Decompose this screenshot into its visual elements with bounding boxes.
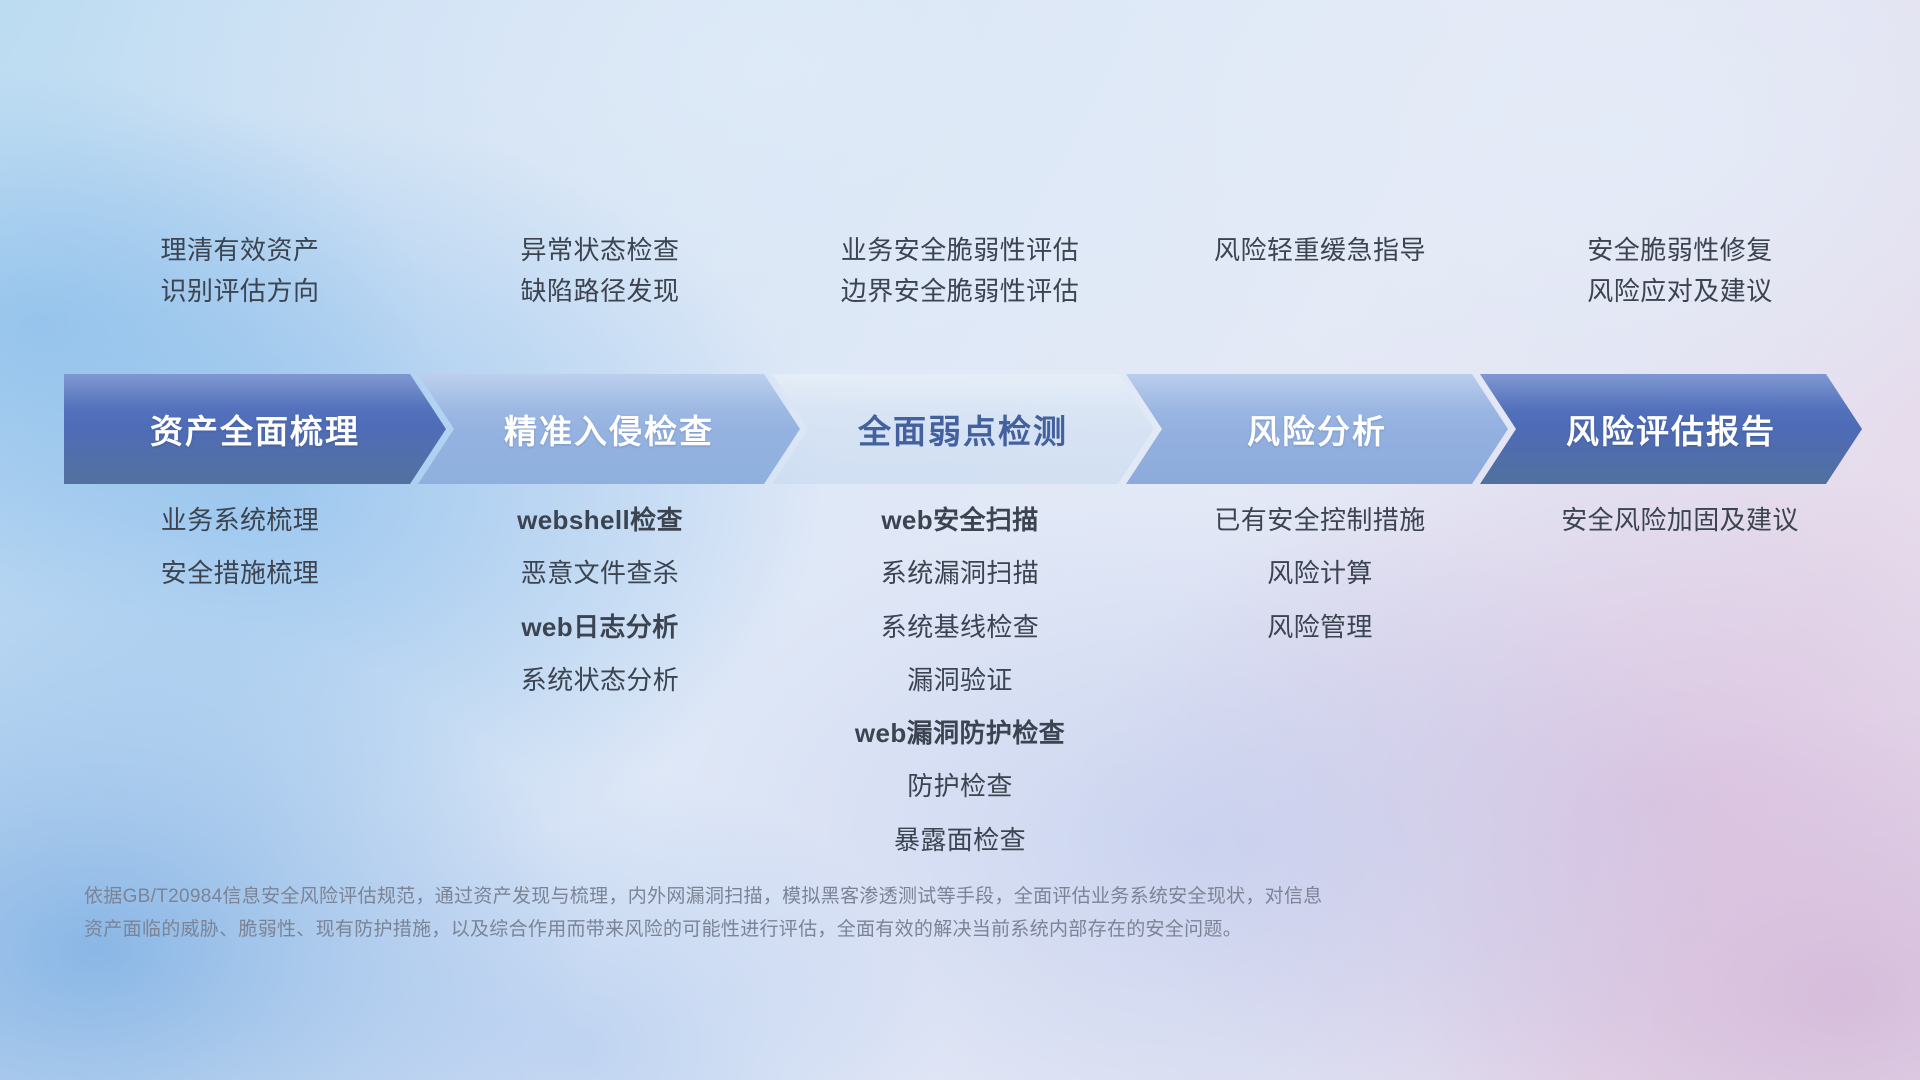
top-item: 缺陷路径发现 <box>520 271 679 312</box>
bottom-item: 系统状态分析 <box>521 660 679 700</box>
top-item: 识别评估方向 <box>160 271 319 312</box>
bottom-item: 风险管理 <box>1267 607 1373 647</box>
chevron-stage-asset-inventory[interactable]: 资产全面梳理 <box>64 374 446 484</box>
top-column-weakness-detection: 业务安全脆弱性评估 边界安全脆弱性评估 <box>780 230 1140 312</box>
bottom-column-assessment-report: 安全风险加固及建议 <box>1500 500 1860 553</box>
chevron-label: 风险评估报告 <box>1566 405 1776 453</box>
bottom-column-weakness-detection: web安全扫描 系统漏洞扫描 系统基线检查 漏洞验证 web漏洞防护检查 防护检… <box>780 500 1140 873</box>
chevron-stage-weakness-detection[interactable]: 全面弱点检测 <box>772 374 1154 484</box>
chevron-label: 精准入侵检查 <box>504 405 714 453</box>
top-descriptions-row: 理清有效资产 识别评估方向 异常状态检查 缺陷路径发现 业务安全脆弱性评估 边界… <box>60 230 1860 312</box>
top-item: 业务安全脆弱性评估 <box>841 230 1080 271</box>
bottom-item: 恶意文件查杀 <box>521 553 679 593</box>
bottom-column-risk-analysis: 已有安全控制措施 风险计算 风险管理 <box>1140 500 1500 660</box>
process-chevron-banner: 资产全面梳理 精准入侵检查 全面弱点检测 风险分析 风险评估报告 <box>64 374 1862 484</box>
bottom-item: 系统基线检查 <box>881 607 1039 647</box>
top-item: 风险轻重缓急指导 <box>1214 230 1426 271</box>
top-item: 风险应对及建议 <box>1587 271 1773 312</box>
top-item: 理清有效资产 <box>160 230 319 271</box>
chevron-stage-intrusion-check[interactable]: 精准入侵检查 <box>418 374 800 484</box>
bottom-item: 系统漏洞扫描 <box>881 553 1039 593</box>
chevron-label: 风险分析 <box>1247 405 1387 453</box>
top-column-intrusion-check: 异常状态检查 缺陷路径发现 <box>420 230 780 312</box>
footer-line-1: 依据GB/T20984信息安全风险评估规范，通过资产发现与梳理，内外网漏洞扫描，… <box>84 880 1800 913</box>
footer-line-2: 资产面临的威胁、脆弱性、现有防护措施，以及综合作用而带来风险的可能性进行评估，全… <box>84 913 1800 946</box>
footer-description: 依据GB/T20984信息安全风险评估规范，通过资产发现与梳理，内外网漏洞扫描，… <box>84 880 1800 947</box>
top-item: 异常状态检查 <box>520 230 679 271</box>
chevron-stage-risk-analysis[interactable]: 风险分析 <box>1126 374 1508 484</box>
bottom-item: 安全风险加固及建议 <box>1561 500 1799 540</box>
chevron-label: 资产全面梳理 <box>150 405 360 453</box>
chevron-label: 全面弱点检测 <box>858 405 1068 453</box>
bottom-item: 业务系统梳理 <box>161 500 319 540</box>
bottom-item: web漏洞防护检查 <box>855 713 1065 753</box>
bottom-item: 防护检查 <box>907 766 1013 806</box>
bottom-item: webshell检查 <box>517 500 683 540</box>
chevron-stage-assessment-report[interactable]: 风险评估报告 <box>1480 374 1862 484</box>
bottom-item: 已有安全控制措施 <box>1214 500 1425 540</box>
top-column-risk-analysis: 风险轻重缓急指导 <box>1140 230 1500 312</box>
bottom-item: web日志分析 <box>521 607 678 647</box>
slide-content: 理清有效资产 识别评估方向 异常状态检查 缺陷路径发现 业务安全脆弱性评估 边界… <box>0 0 1920 1080</box>
top-column-assessment-report: 安全脆弱性修复 风险应对及建议 <box>1500 230 1860 312</box>
bottom-column-intrusion-check: webshell检查 恶意文件查杀 web日志分析 系统状态分析 <box>420 500 780 713</box>
bottom-item: web安全扫描 <box>881 500 1038 540</box>
bottom-column-asset-inventory: 业务系统梳理 安全措施梳理 <box>60 500 420 607</box>
top-item: 安全脆弱性修复 <box>1587 230 1773 271</box>
bottom-item: 漏洞验证 <box>907 660 1013 700</box>
bottom-item: 安全措施梳理 <box>161 553 319 593</box>
top-column-asset-inventory: 理清有效资产 识别评估方向 <box>60 230 420 312</box>
bottom-details-row: 业务系统梳理 安全措施梳理 webshell检查 恶意文件查杀 web日志分析 … <box>60 500 1860 873</box>
bottom-item: 风险计算 <box>1267 553 1373 593</box>
bottom-item: 暴露面检查 <box>894 820 1026 860</box>
top-item: 边界安全脆弱性评估 <box>841 271 1080 312</box>
